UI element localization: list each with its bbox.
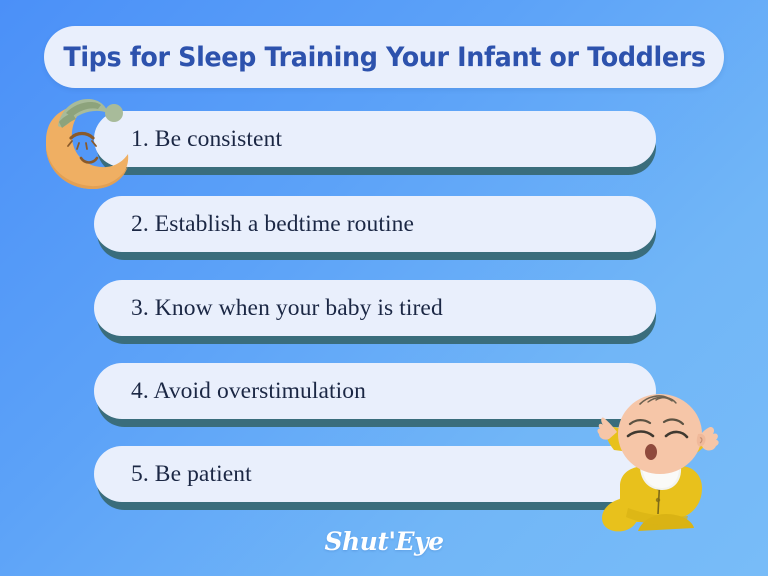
brand-logo: Shut'Eye [0,527,768,556]
yawning-baby-icon [568,388,748,533]
tip-label: 4. Avoid overstimulation [131,378,366,405]
tip-label: 5. Be patient [131,461,252,488]
tip-card: 3. Know when your baby is tired [94,280,656,336]
tip-label: 3. Know when your baby is tired [131,295,443,322]
infographic-poster: Tips for Sleep Training Your Infant or T… [0,0,768,576]
list-item: 2. Establish a bedtime routine [94,196,656,252]
tip-card: 2. Establish a bedtime routine [94,196,656,252]
sleeping-moon-icon [38,96,146,196]
tip-label: 1. Be consistent [131,126,282,153]
tip-label: 2. Establish a bedtime routine [131,211,414,238]
tip-card: 1. Be consistent [94,111,656,167]
list-item: 3. Know when your baby is tired [94,280,656,336]
brand-name: Shut'Eye [324,527,443,556]
list-item: 1. Be consistent [94,111,656,167]
